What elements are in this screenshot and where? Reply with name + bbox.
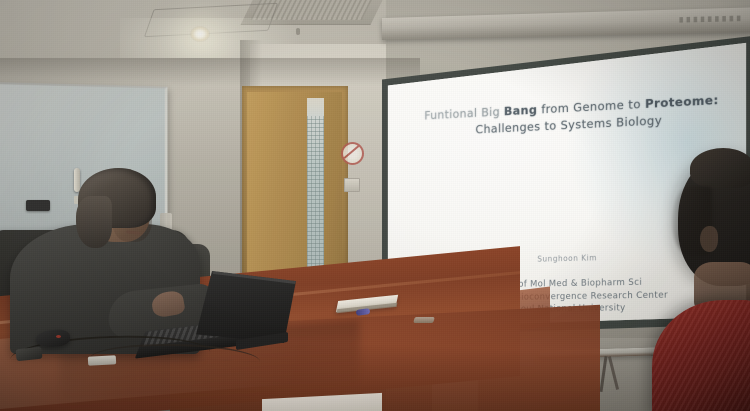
whiteboard-eraser	[26, 200, 50, 211]
usb-flash-drive	[88, 355, 116, 365]
no-smoking-icon	[341, 142, 364, 165]
small-desk-object	[413, 317, 435, 323]
wall-top-shadow	[0, 58, 420, 86]
presentation-room-photo: Funtional Big Bang from Genome to Proteo…	[0, 0, 750, 411]
screen-brand-label	[679, 16, 741, 23]
mouse-led-indicator	[56, 335, 61, 338]
presenter-hair-side	[76, 196, 112, 248]
light-switch[interactable]	[344, 178, 360, 192]
ceiling-downlight-icon	[190, 26, 210, 42]
ceiling-sprinkler-icon	[296, 28, 300, 35]
foreground-person-hair	[690, 148, 750, 188]
foreground-person-ear	[700, 226, 718, 252]
